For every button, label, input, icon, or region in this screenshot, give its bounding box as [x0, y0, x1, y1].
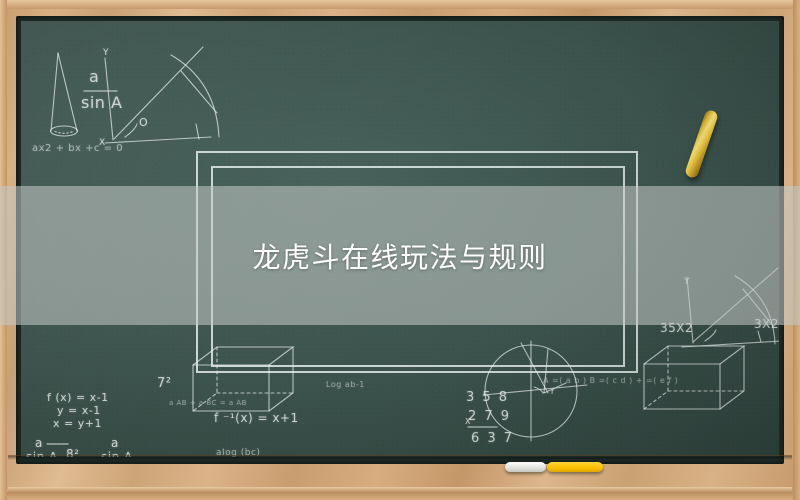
white-chalk [505, 462, 546, 472]
frame-bevel-top [0, 0, 800, 9]
matrix-expression: A =( a b ) B =( c d ) + =( e f ) [543, 376, 678, 385]
axis-x-label-right: X [465, 417, 471, 426]
page-title: 龙虎斗在线玩法与规则 [0, 186, 800, 325]
fraction2-numerator-a: a [35, 436, 43, 450]
inverse-function-expression: f ⁻¹(x) = x+1 [214, 411, 299, 425]
frame-bevel-bottom [0, 492, 800, 500]
axis-y-label-topleft: Y [103, 48, 109, 58]
quadratic-equation: ax2 + bx +c = 0 [32, 143, 123, 154]
chalk-ledge-lip [8, 487, 792, 492]
gold-chalk-stick [684, 109, 719, 179]
function-line-1: f (x) = x-1 [47, 391, 109, 404]
fraction-numerator-a: a [89, 67, 99, 86]
function-line-3: x = y+1 [53, 417, 102, 430]
exponent-seven-squared: 7² [157, 376, 171, 391]
radius-label: r [551, 387, 555, 396]
small-segment-equation: a AB + a BC = a AB [169, 399, 247, 407]
function-line-2: y = x-1 [57, 404, 101, 417]
log-label-right: Log ab-1 [326, 380, 365, 389]
sum-total-row: 6 3 7 [471, 431, 514, 446]
sum-row-2: 2 7 9 [468, 409, 511, 424]
fraction3-numerator-a: a [111, 436, 119, 450]
chalkboard-banner: a sin A Y X O ax2 + bx +c = 0 Y 35X2 3X2… [0, 0, 800, 500]
fraction-denominator-sina: sin A [81, 93, 122, 112]
yellow-chalk [547, 462, 603, 472]
cone-drawing [51, 53, 78, 136]
sum-row-1: 3 5 8 [466, 390, 509, 405]
angle-label-topleft: O [139, 116, 148, 129]
